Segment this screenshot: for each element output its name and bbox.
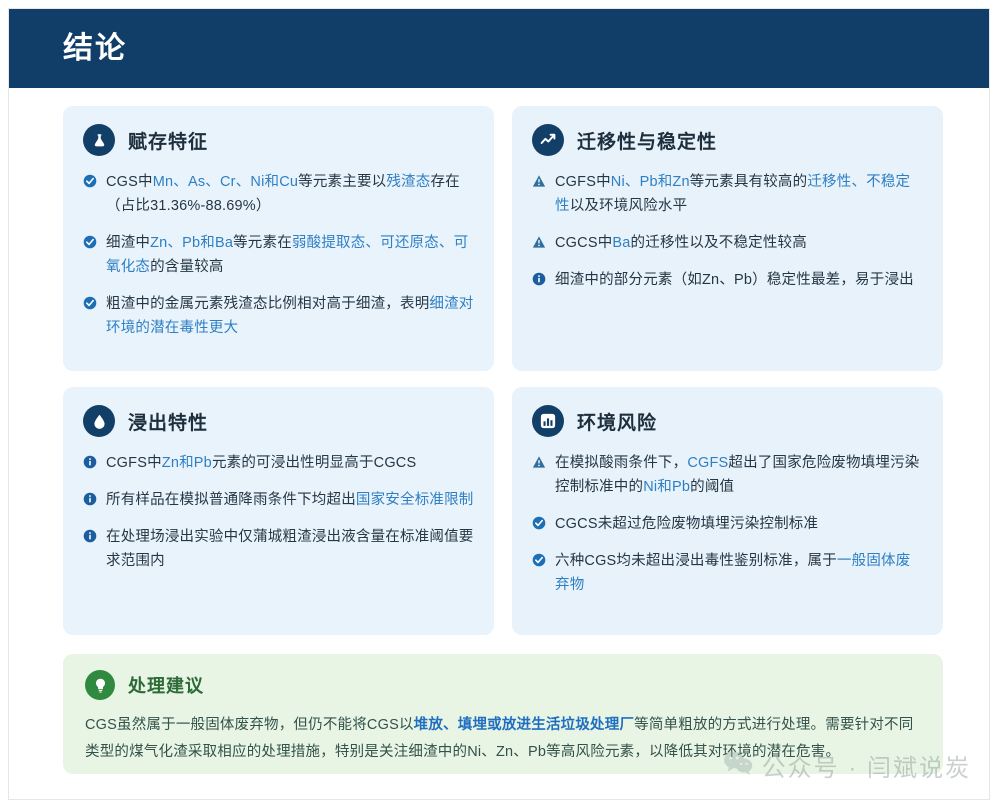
info-circle-icon bbox=[83, 455, 97, 469]
info-circle-icon bbox=[532, 272, 546, 286]
plain-text: 的含量较高 bbox=[150, 259, 224, 275]
bullet-list: CGS中Mn、As、Cr、Ni和Cu等元素主要以残渣态存在（占比31.36%-8… bbox=[83, 170, 474, 340]
highlight-text: CGFS bbox=[687, 455, 728, 471]
plain-text: 元素的可浸出性明显高于CGCS bbox=[212, 455, 416, 471]
highlight-text: Zn、Pb和Ba bbox=[150, 235, 233, 251]
plain-text: 细渣中 bbox=[106, 235, 150, 251]
bar-chart-icon bbox=[532, 405, 564, 437]
plain-text: CGFS中 bbox=[106, 455, 162, 471]
bullet-item: CGCS未超过危险废物填埋污染控制标准 bbox=[532, 512, 923, 536]
highlight-text: Mn、As、Cr、Ni和Cu bbox=[153, 174, 298, 190]
bullet-item: CGFS中Ni、Pb和Zn等元素具有较高的迁移性、不稳定性以及环境风险水平 bbox=[532, 170, 923, 218]
bullet-text: 细渣中Zn、Pb和Ba等元素在弱酸提取态、可还原态、可氧化态的含量较高 bbox=[106, 231, 474, 279]
card-title: 浸出特性 bbox=[128, 408, 208, 435]
card-header: 浸出特性 bbox=[83, 405, 474, 437]
card-title: 环境风险 bbox=[577, 408, 657, 435]
recommendation-body: CGS虽然属于一般固体废弃物，但仍不能将CGS以堆放、填埋或放进生活垃圾处理厂等… bbox=[85, 712, 921, 766]
plain-text: 等元素具有较高的 bbox=[690, 174, 808, 190]
check-circle-icon bbox=[532, 553, 546, 567]
bullet-text: CGS中Mn、As、Cr、Ni和Cu等元素主要以残渣态存在（占比31.36%-8… bbox=[106, 170, 474, 218]
plain-text: 在处理场浸出实验中仅蒲城粗渣浸出液含量在标准阈值要求范围内 bbox=[106, 529, 474, 569]
plain-text: CGS虽然属于一般固体废弃物，但仍不能将CGS以 bbox=[85, 717, 414, 733]
card-environmental-risk: 环境风险在模拟酸雨条件下，CGFS超出了国家危险废物填埋污染控制标准中的Ni和P… bbox=[512, 387, 943, 635]
bullet-item: CGFS中Zn和Pb元素的可浸出性明显高于CGCS bbox=[83, 451, 474, 475]
highlight-text: Ni和Pb bbox=[643, 479, 690, 495]
plain-text: 以及环境风险水平 bbox=[570, 198, 688, 214]
bullet-item: 在处理场浸出实验中仅蒲城粗渣浸出液含量在标准阈值要求范围内 bbox=[83, 525, 474, 573]
plain-text: 等元素主要以 bbox=[298, 174, 386, 190]
bullet-item: 在模拟酸雨条件下，CGFS超出了国家危险废物填埋污染控制标准中的Ni和Pb的阈值 bbox=[532, 451, 923, 499]
info-circle-icon bbox=[83, 492, 97, 506]
card-title: 迁移性与稳定性 bbox=[577, 127, 717, 154]
bullet-item: 细渣中Zn、Pb和Ba等元素在弱酸提取态、可还原态、可氧化态的含量较高 bbox=[83, 231, 474, 279]
plain-text: CGCS中 bbox=[555, 235, 612, 251]
bullet-text: CGCS中Ba的迁移性以及不稳定性较高 bbox=[555, 231, 807, 255]
recommendation-card: 处理建议 CGS虽然属于一般固体废弃物，但仍不能将CGS以堆放、填埋或放进生活垃… bbox=[63, 654, 943, 774]
highlight-text: 残渣态 bbox=[386, 174, 430, 190]
bullet-list: CGFS中Ni、Pb和Zn等元素具有较高的迁移性、不稳定性以及环境风险水平CGC… bbox=[532, 170, 923, 292]
bullet-item: 六种CGS均未超出浸出毒性鉴别标准，属于一般固体废弃物 bbox=[532, 549, 923, 597]
page-title: 结论 bbox=[63, 29, 127, 69]
bullet-text: 粗渣中的金属元素残渣态比例相对高于细渣，表明细渣对环境的潜在毒性更大 bbox=[106, 292, 474, 340]
warning-triangle-icon bbox=[532, 235, 546, 249]
bullet-item: CGS中Mn、As、Cr、Ni和Cu等元素主要以残渣态存在（占比31.36%-8… bbox=[83, 170, 474, 218]
card-leaching: 浸出特性CGFS中Zn和Pb元素的可浸出性明显高于CGCS所有样品在模拟普通降雨… bbox=[63, 387, 494, 635]
slide-sheet: 结论 赋存特征CGS中Mn、As、Cr、Ni和Cu等元素主要以残渣态存在（占比3… bbox=[8, 8, 990, 800]
bullet-item: CGCS中Ba的迁移性以及不稳定性较高 bbox=[532, 231, 923, 255]
warning-triangle-icon bbox=[532, 174, 546, 188]
check-circle-icon bbox=[83, 235, 97, 249]
plain-text: 细渣中的部分元素（如Zn、Pb）稳定性最差，易于浸出 bbox=[555, 272, 914, 288]
plain-text: 粗渣中的金属元素残渣态比例相对高于细渣，表明 bbox=[106, 296, 429, 312]
highlight-text: 堆放、填埋或放进生活垃圾处理厂 bbox=[414, 717, 635, 733]
flask-icon bbox=[83, 124, 115, 156]
cards-grid: 赋存特征CGS中Mn、As、Cr、Ni和Cu等元素主要以残渣态存在（占比31.3… bbox=[63, 106, 943, 635]
card-mobility: 迁移性与稳定性CGFS中Ni、Pb和Zn等元素具有较高的迁移性、不稳定性以及环境… bbox=[512, 106, 943, 371]
bullet-text: 在处理场浸出实验中仅蒲城粗渣浸出液含量在标准阈值要求范围内 bbox=[106, 525, 474, 573]
card-header: 迁移性与稳定性 bbox=[532, 124, 923, 156]
bullet-item: 粗渣中的金属元素残渣态比例相对高于细渣，表明细渣对环境的潜在毒性更大 bbox=[83, 292, 474, 340]
bullet-text: CGCS未超过危险废物填埋污染控制标准 bbox=[555, 512, 818, 536]
plain-text: 的阈值 bbox=[690, 479, 734, 495]
card-occurrence: 赋存特征CGS中Mn、As、Cr、Ni和Cu等元素主要以残渣态存在（占比31.3… bbox=[63, 106, 494, 371]
bullet-text: CGFS中Zn和Pb元素的可浸出性明显高于CGCS bbox=[106, 451, 416, 475]
plain-text: 所有样品在模拟普通降雨条件下均超出 bbox=[106, 492, 356, 508]
plain-text: CGFS中 bbox=[555, 174, 611, 190]
bullet-text: 所有样品在模拟普通降雨条件下均超出国家安全标准限制 bbox=[106, 488, 474, 512]
bullet-list: CGFS中Zn和Pb元素的可浸出性明显高于CGCS所有样品在模拟普通降雨条件下均… bbox=[83, 451, 474, 573]
bullet-text: CGFS中Ni、Pb和Zn等元素具有较高的迁移性、不稳定性以及环境风险水平 bbox=[555, 170, 923, 218]
bullet-item: 细渣中的部分元素（如Zn、Pb）稳定性最差，易于浸出 bbox=[532, 268, 923, 292]
plain-text: 的迁移性以及不稳定性较高 bbox=[631, 235, 807, 251]
plain-text: CGS中 bbox=[106, 174, 153, 190]
card-title: 赋存特征 bbox=[128, 127, 208, 154]
check-circle-icon bbox=[83, 296, 97, 310]
water-drop-icon bbox=[83, 405, 115, 437]
bullet-item: 所有样品在模拟普通降雨条件下均超出国家安全标准限制 bbox=[83, 488, 474, 512]
highlight-text: Ba bbox=[612, 235, 630, 251]
lightbulb-icon bbox=[85, 670, 115, 700]
recommendation-title: 处理建议 bbox=[128, 672, 204, 698]
plain-text: 六种CGS均未超出浸出毒性鉴别标准，属于 bbox=[555, 553, 837, 569]
bullet-text: 六种CGS均未超出浸出毒性鉴别标准，属于一般固体废弃物 bbox=[555, 549, 923, 597]
trend-line-icon bbox=[532, 124, 564, 156]
header-bar: 结论 bbox=[9, 9, 990, 88]
highlight-text: 国家安全标准限制 bbox=[356, 492, 474, 508]
check-circle-icon bbox=[532, 516, 546, 530]
card-header: 环境风险 bbox=[532, 405, 923, 437]
highlight-text: Zn和Pb bbox=[162, 455, 212, 471]
card-header: 赋存特征 bbox=[83, 124, 474, 156]
bullet-list: 在模拟酸雨条件下，CGFS超出了国家危险废物填埋污染控制标准中的Ni和Pb的阈值… bbox=[532, 451, 923, 597]
plain-text: 在模拟酸雨条件下， bbox=[555, 455, 687, 471]
bullet-text: 细渣中的部分元素（如Zn、Pb）稳定性最差，易于浸出 bbox=[555, 268, 914, 292]
bullet-text: 在模拟酸雨条件下，CGFS超出了国家危险废物填埋污染控制标准中的Ni和Pb的阈值 bbox=[555, 451, 923, 499]
plain-text: 等元素在 bbox=[233, 235, 292, 251]
warning-triangle-icon bbox=[532, 455, 546, 469]
check-circle-icon bbox=[83, 174, 97, 188]
info-circle-icon bbox=[83, 529, 97, 543]
slide-page: 结论 赋存特征CGS中Mn、As、Cr、Ni和Cu等元素主要以残渣态存在（占比3… bbox=[0, 0, 1000, 810]
plain-text: CGCS未超过危险废物填埋污染控制标准 bbox=[555, 516, 818, 532]
highlight-text: Ni、Pb和Zn bbox=[611, 174, 690, 190]
recommendation-header: 处理建议 bbox=[85, 670, 921, 700]
